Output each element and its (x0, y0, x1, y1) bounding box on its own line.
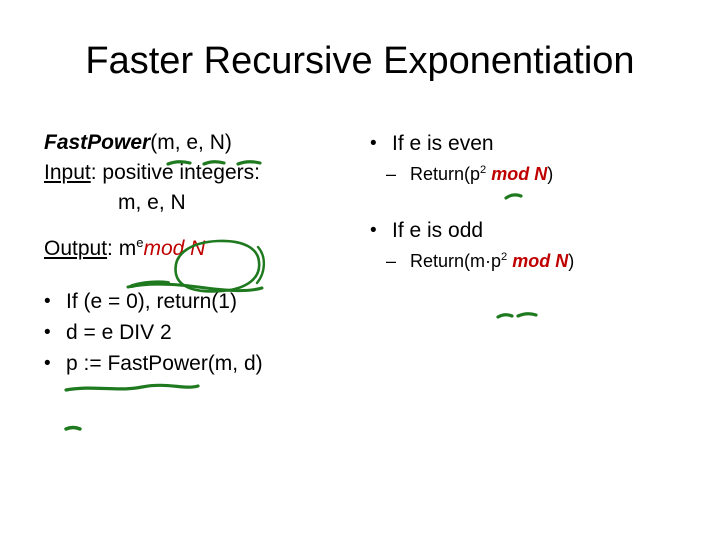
list-item-even-case: If e is even (370, 128, 700, 159)
input-label: Input (44, 161, 91, 184)
ink-underline-d-div (66, 385, 198, 390)
right-column: If e is even Return(p2 mod N) If e is od… (370, 128, 700, 276)
spacer (370, 189, 700, 215)
left-column: FastPower(m, e, N) Input: positive integ… (44, 128, 344, 379)
input-rest: : positive integers: (91, 161, 260, 184)
return-prefix: Return(p (410, 164, 480, 184)
ink-tick-m-odd (498, 315, 512, 317)
list-item-odd-case: If e is odd (370, 215, 700, 246)
function-signature: FastPower(m, e, N) (44, 128, 344, 158)
output-mod: mod N (143, 237, 205, 260)
input-params: m, e, N (44, 188, 344, 218)
return-exponent: 2 (480, 164, 486, 176)
cases-list-odd: If e is odd (370, 215, 700, 246)
page-title: Faster Recursive Exponentiation (0, 38, 720, 84)
return-mod: mod N (491, 164, 547, 184)
output-base: : m (107, 237, 136, 260)
return-mod: mod N (512, 251, 568, 271)
list-item: Return(p2 mod N) (370, 159, 700, 189)
return-prefix: Return(m·p (410, 251, 501, 271)
function-args: (m, e, N) (150, 131, 232, 154)
algorithm-steps-list: If (e = 0), return(1) d = e DIV 2 p := F… (44, 286, 344, 379)
ink-tick-p-odd (518, 314, 536, 316)
ink-underline-p-left (66, 428, 80, 430)
list-item: d = e DIV 2 (44, 317, 344, 348)
slide: Faster Recursive Exponentiation FastPowe… (0, 0, 720, 540)
input-line: Input: positive integers: (44, 158, 344, 188)
function-name: FastPower (44, 131, 150, 154)
even-case-sublist: Return(p2 mod N) (370, 159, 700, 189)
list-item: If (e = 0), return(1) (44, 286, 344, 317)
output-label: Output (44, 237, 107, 260)
cases-list: If e is even (370, 128, 700, 159)
return-suffix: ) (568, 251, 574, 271)
return-suffix: ) (547, 164, 553, 184)
list-item: Return(m·p2 mod N) (370, 246, 700, 276)
odd-case-sublist: Return(m·p2 mod N) (370, 246, 700, 276)
list-item: p := FastPower(m, d) (44, 348, 344, 379)
spacer (44, 264, 344, 286)
output-line: Output: memod N (44, 234, 344, 264)
return-exponent: 2 (501, 251, 507, 263)
spacer (44, 218, 344, 234)
